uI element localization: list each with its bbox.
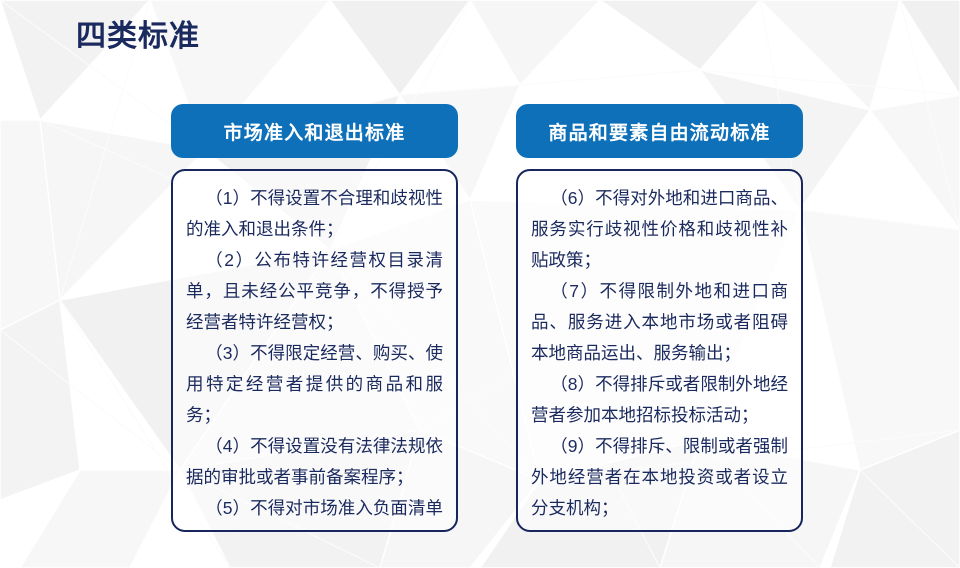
standards-column-free-flow: 商品和要素自由流动标准 （6）不得对外地和进口商品、服务实行歧视性价格和歧视性补… [516,104,803,532]
clause-item: （1）不得设置不合理和歧视性的准入和退出条件； [186,183,443,245]
clause-list-market-access: （1）不得设置不合理和歧视性的准入和退出条件； （2）公布特许经营权目录清单，且… [186,183,443,532]
clause-item: （2）公布特许经营权目录清单，且未经公平竞争，不得授予经营者特许经营权； [186,245,443,338]
clause-item: （6）不得对外地和进口商品、服务实行歧视性价格和歧视性补贴政策； [531,183,788,276]
clause-item: （9）不得排斥、限制或者强制外地经营者在本地投资或者设立分支机构； [531,431,788,524]
clause-item: （5）不得对市场准入负面清单以外的行业、领域、业务等设置审批程序。 [186,493,443,532]
background-polygon-pattern [0,0,960,568]
column-body-market-access: （1）不得设置不合理和歧视性的准入和退出条件； （2）公布特许经营权目录清单，且… [171,169,458,532]
clause-item: （8）不得排斥或者限制外地经营者参加本地招标投标活动； [531,369,788,431]
column-body-free-flow: （6）不得对外地和进口商品、服务实行歧视性价格和歧视性补贴政策； （7）不得限制… [516,169,803,532]
clause-item: （4）不得设置没有法律法规依据的审批或者事前备案程序； [186,431,443,493]
column-header-market-access: 市场准入和退出标准 [171,104,458,158]
page-title: 四类标准 [76,18,200,56]
clause-item: （3）不得限定经营、购买、使用特定经营者提供的商品和服务； [186,338,443,431]
column-header-free-flow: 商品和要素自由流动标准 [516,104,803,158]
slide-canvas: 四类标准 市场准入和退出标准 （1）不得设置不合理和歧视性的准入和退出条件； （… [0,0,960,568]
clause-item: （10）不得对外地经营者在本地的投资或者设立的分支机构实行歧视性待遇，侵害其合法… [531,524,788,532]
clause-item: （7）不得限制外地和进口商品、服务进入本地市场或者阻碍本地商品运出、服务输出； [531,276,788,369]
clause-list-free-flow: （6）不得对外地和进口商品、服务实行歧视性价格和歧视性补贴政策； （7）不得限制… [531,183,788,532]
standards-column-market-access: 市场准入和退出标准 （1）不得设置不合理和歧视性的准入和退出条件； （2）公布特… [171,104,458,532]
